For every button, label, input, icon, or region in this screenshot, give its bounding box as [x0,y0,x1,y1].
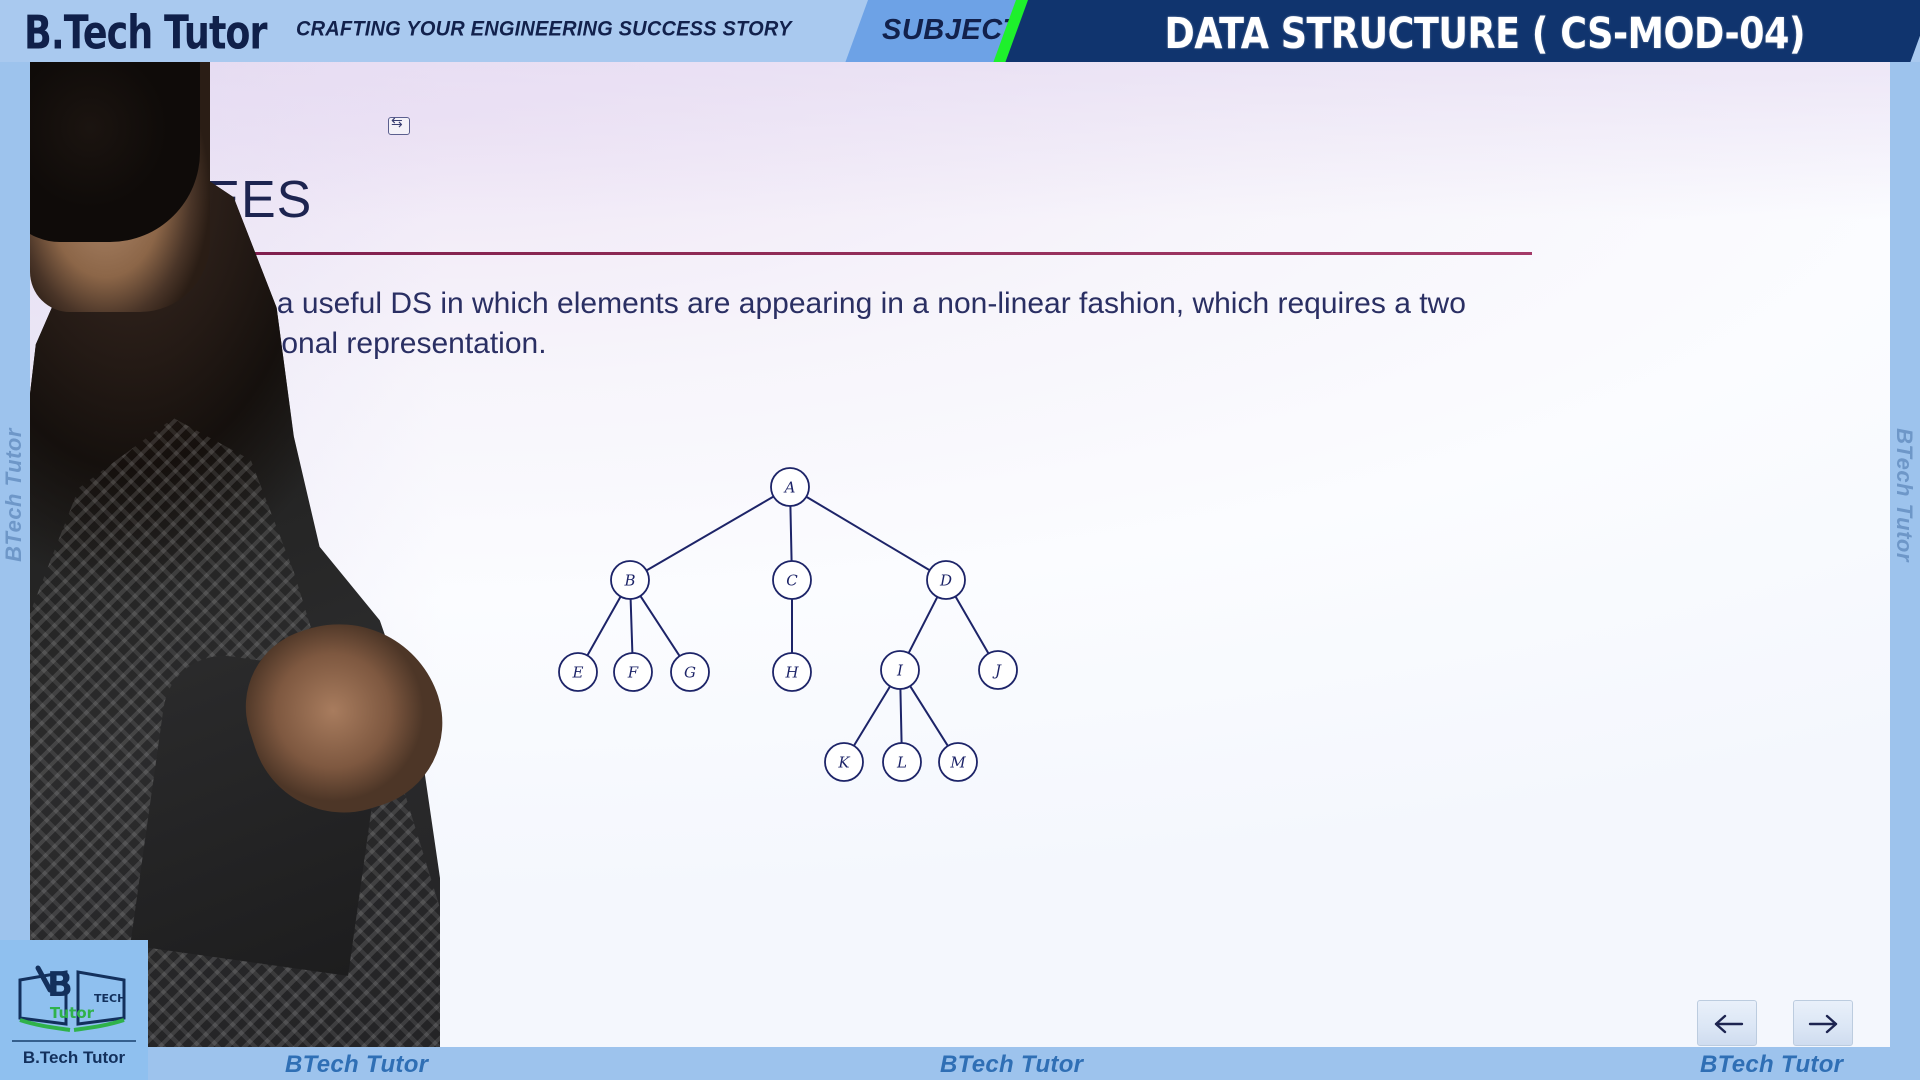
swap-icon[interactable] [388,117,410,135]
tree-edge-B-F [631,599,633,653]
tree-node-A: A [771,468,809,506]
slide-canvas: TREES Tree is a useful DS in which eleme… [30,62,1902,1047]
tree-node-K: K [825,743,863,781]
tree-edge-A-D [806,497,929,571]
svg-text:Tutor: Tutor [50,1004,95,1022]
app-header: B.Tech Tutor CRAFTING YOUR ENGINEERING S… [0,0,1920,62]
title-divider [142,252,1532,255]
tree-node-C: C [773,561,811,599]
tree-node-D: D [927,561,965,599]
logo-divider [12,1040,136,1042]
tree-edge-B-E [587,597,620,656]
tree-node-label: G [684,664,696,682]
tree-node-label: L [896,754,907,772]
svg-text:B: B [47,965,73,1005]
watermark-footer-right: BTech Tutor [1700,1051,1843,1079]
tree-node-J: J [979,651,1017,689]
watermark-left: BTech Tutor [1,385,27,605]
arrow-right-icon [1804,1009,1844,1039]
tree-node-B: B [611,561,649,599]
tree-edge-A-C [790,506,791,561]
app-footer: BTech Tutor BTech Tutor BTech Tutor [0,1047,1920,1080]
tree-node-L: L [883,743,921,781]
tree-edge-A-B [646,497,773,571]
tree-node-label: D [939,572,952,590]
tree-edge-D-I [909,597,938,653]
brand-logo-text: B.Tech Tutor [24,6,267,60]
tree-node-H: H [773,653,811,691]
slide-body-text: Tree is a useful DS in which elements ar… [178,284,1478,363]
tree-diagram-svg: ABCDEFGHIJKLM [530,442,1090,812]
tree-node-label: E [572,664,584,682]
previous-slide-button[interactable] [1697,1000,1757,1046]
svg-text:TECH: TECH [94,992,126,1005]
page-title: TREES [134,170,312,230]
open-book-icon: B TECH Tutor [16,962,128,1032]
tree-edge-I-K [854,686,890,746]
tree-node-label: H [784,664,799,682]
tree-node-label: I [896,662,904,680]
watermark-right: BTech Tutor [1891,385,1917,605]
btech-tutor-logo: B TECH Tutor B.Tech Tutor [0,940,148,1080]
tree-node-label: M [949,754,966,772]
arrow-left-icon [1708,1009,1748,1039]
tree-node-I: I [881,651,919,689]
tree-node-label: C [786,572,798,590]
tree-node-E: E [559,653,597,691]
tree-node-label: F [627,664,639,682]
tree-node-label: K [837,754,850,772]
tree-node-label: B [623,572,635,590]
tree-node-M: M [939,743,977,781]
right-rail: BTech Tutor [1890,62,1920,1047]
tree-edge-B-G [640,596,679,656]
left-rail: BTech Tutor [0,62,30,1047]
logo-caption: B.Tech Tutor [0,1048,148,1068]
next-slide-button[interactable] [1793,1000,1853,1046]
tree-edge-D-J [956,596,989,653]
tree-node-G: G [671,653,709,691]
tree-diagram: ABCDEFGHIJKLM [530,442,1090,812]
watermark-footer-center: BTech Tutor [940,1051,1083,1079]
tree-edge-I-M [910,686,948,746]
tree-edge-I-L [900,689,901,743]
course-title: DATA STRUCTURE ( CS-MOD-04) [1120,9,1850,62]
tree-node-label: A [783,479,796,497]
brand-tagline: CRAFTING YOUR ENGINEERING SUCCESS STORY [296,17,792,41]
watermark-footer-left: BTech Tutor [285,1051,428,1079]
tree-node-F: F [614,653,652,691]
